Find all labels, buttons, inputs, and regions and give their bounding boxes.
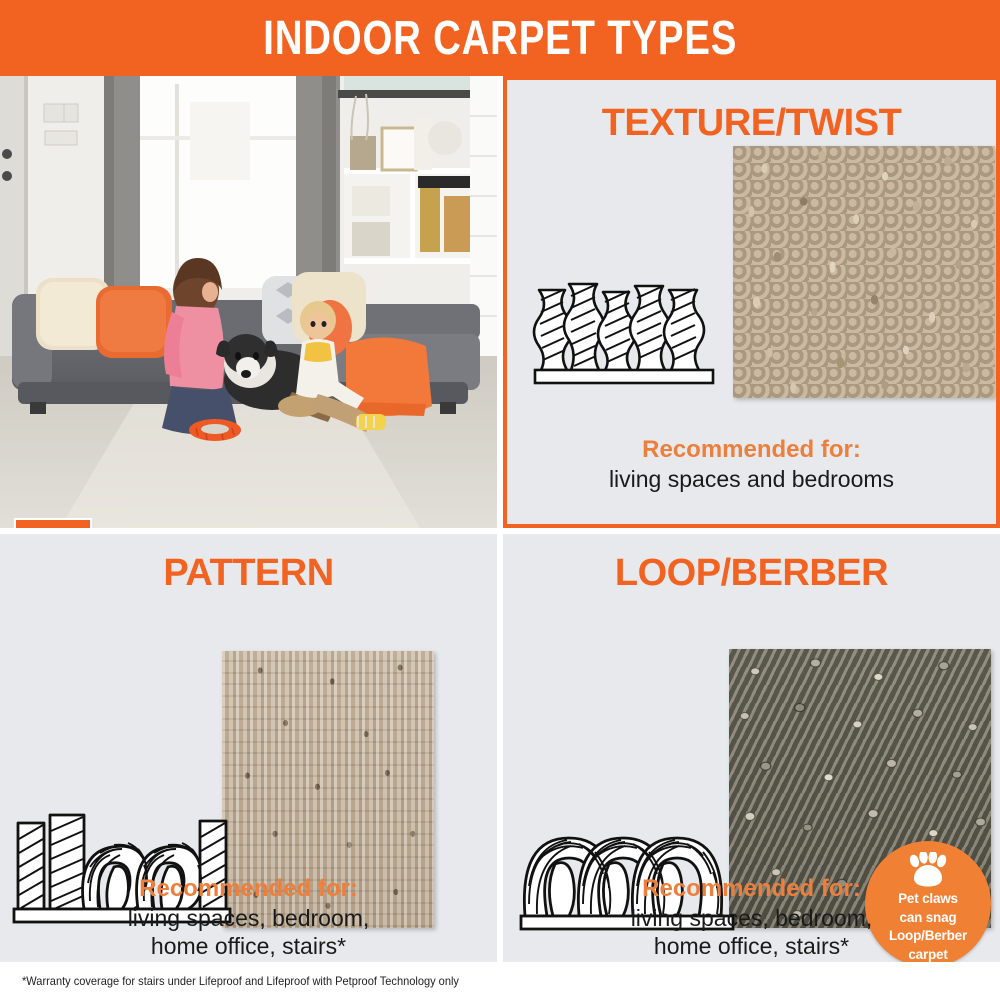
rec-heading: Recommended for: (503, 874, 1000, 904)
rec-line-1: living spaces, bedroom, (503, 904, 1000, 932)
infographic-page: INDOOR CARPET TYPES (0, 0, 1000, 1000)
rec-heading: Recommended for: (0, 874, 497, 904)
loop-berber-title: LOOP/BERBER (503, 552, 1000, 595)
pattern-title: PATTERN (0, 552, 497, 595)
home-depot-logo: THE HOME DEPOT (14, 518, 92, 528)
rec-line-2: home office, stairs* (0, 932, 497, 960)
header-banner: INDOOR CARPET TYPES (0, 0, 1000, 76)
footnote-bar: *Warranty coverage for stairs under Life… (0, 962, 1000, 1000)
loop-berber-recommendation: Recommended for: living spaces, bedroom,… (503, 874, 1000, 960)
texture-twist-panel: TEXTURE/TWIST (503, 76, 1000, 528)
texture-twist-fiber-diagram (529, 270, 729, 390)
texture-twist-carpet-swatch (733, 146, 995, 398)
page-title: INDOOR CARPET TYPES (263, 11, 737, 66)
rec-heading: Recommended for: (507, 435, 996, 465)
loop-berber-panel: LOOP/BERBER (503, 534, 1000, 962)
rec-line-2: home office, stairs* (503, 932, 1000, 960)
living-room-illustration (0, 76, 497, 528)
living-room-photo-panel: THE HOME DEPOT (0, 76, 497, 528)
living-room-photo (0, 76, 497, 528)
texture-twist-recommendation: Recommended for: living spaces and bedro… (507, 435, 996, 493)
panel-grid: THE HOME DEPOT TEXTURE/TWIST (0, 76, 1000, 962)
footnote-text: *Warranty coverage for stairs under Life… (22, 974, 459, 988)
rec-line-1: living spaces, bedroom, (0, 904, 497, 932)
texture-twist-title: TEXTURE/TWIST (507, 102, 996, 145)
pattern-recommendation: Recommended for: living spaces, bedroom,… (0, 874, 497, 960)
pattern-panel: PATTERN (0, 534, 497, 962)
rec-line-1: living spaces and bedrooms (507, 465, 996, 493)
